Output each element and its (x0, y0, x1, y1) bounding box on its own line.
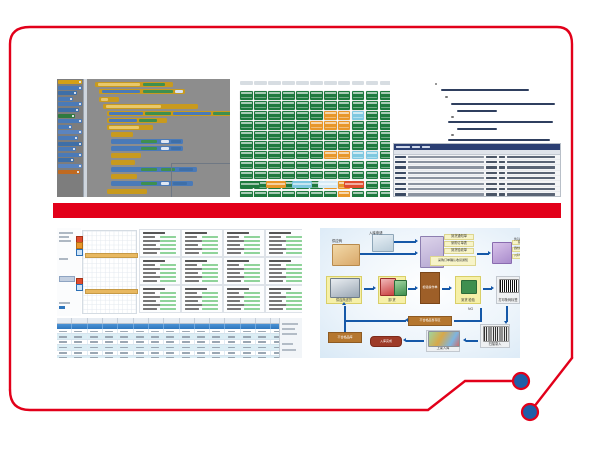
gantt-bar-1[interactable] (85, 253, 138, 258)
grid-cell[interactable] (310, 161, 323, 170)
panel-schedule-sheet[interactable] (57, 228, 302, 358)
grid-cell[interactable] (254, 101, 267, 110)
grid-cell[interactable] (268, 121, 281, 130)
block-statement[interactable] (107, 125, 153, 130)
column-letter[interactable] (149, 318, 164, 323)
table-cell[interactable] (210, 345, 225, 349)
column-letter[interactable] (88, 318, 103, 323)
grid-cell[interactable] (296, 101, 309, 110)
sheet-data-block[interactable] (223, 229, 265, 257)
table-cell[interactable] (180, 345, 195, 349)
grid-cell[interactable] (338, 91, 351, 100)
block-group-1[interactable] (111, 132, 133, 137)
grid-cell[interactable] (296, 171, 309, 180)
table-cell[interactable] (149, 340, 164, 344)
table-cell[interactable] (72, 340, 87, 344)
table-cell[interactable] (149, 356, 164, 358)
gantt-node-orange-1[interactable] (76, 242, 83, 249)
grid-cell[interactable] (296, 111, 309, 120)
sheet-data-block[interactable] (139, 257, 181, 285)
grid-column-header (254, 81, 267, 85)
table-cell[interactable] (149, 345, 164, 349)
grid-cell[interactable] (296, 121, 309, 130)
grid-cell[interactable] (380, 181, 390, 190)
block-group-4[interactable] (111, 174, 137, 179)
table-cell[interactable] (195, 334, 210, 338)
grid-cell[interactable] (240, 91, 253, 100)
table-cell[interactable] (103, 329, 118, 333)
table-cell[interactable] (88, 329, 103, 333)
grid-cell[interactable] (282, 131, 295, 140)
grid-cell[interactable] (366, 151, 379, 160)
table-cell[interactable] (57, 334, 72, 338)
column-letter[interactable] (210, 318, 225, 323)
grid-cell[interactable] (380, 91, 390, 100)
grid-cell[interactable] (352, 161, 365, 170)
grid-cell[interactable] (324, 191, 337, 197)
table-cell[interactable] (241, 329, 256, 333)
palette-block-text[interactable] (58, 97, 73, 101)
grid-cell[interactable] (380, 171, 390, 180)
grid-cell[interactable] (352, 101, 365, 110)
column-letter[interactable] (72, 318, 87, 323)
status-cell-grid[interactable] (240, 81, 390, 197)
table-cell[interactable] (195, 351, 210, 355)
grid-cell[interactable] (366, 121, 379, 130)
grid-cell[interactable] (324, 131, 337, 140)
column-letter[interactable] (118, 318, 133, 323)
palette-block-procedures[interactable] (58, 119, 82, 123)
grid-cell[interactable] (366, 171, 379, 180)
log-source (395, 183, 406, 185)
log-row[interactable] (394, 192, 560, 197)
grid-cell[interactable] (380, 161, 390, 170)
grid-cell[interactable] (282, 101, 295, 110)
grid-cell[interactable] (310, 101, 323, 110)
table-cell[interactable] (256, 334, 271, 338)
table-cell[interactable] (256, 340, 271, 344)
accent-dot-upper (513, 373, 529, 389)
table-cell[interactable] (57, 351, 72, 355)
table-cell[interactable] (164, 345, 179, 349)
grid-cell[interactable] (254, 91, 267, 100)
table-cell[interactable] (210, 351, 225, 355)
table-cell[interactable] (103, 356, 118, 358)
code-editor[interactable] (393, 79, 561, 141)
log-source (395, 156, 406, 158)
grid-cell[interactable] (240, 191, 253, 197)
grid-cell[interactable] (380, 151, 390, 160)
grid-cell[interactable] (282, 161, 295, 170)
grid-cell[interactable] (254, 121, 267, 130)
log-detail (507, 193, 555, 195)
grid-cell[interactable] (352, 141, 365, 150)
grid-cell[interactable] (352, 91, 365, 100)
supplier-person-icon (332, 244, 360, 266)
block-group-3[interactable] (111, 160, 135, 165)
table-side-panel[interactable] (279, 318, 302, 358)
table-cell[interactable] (256, 345, 271, 349)
grid-cell[interactable] (282, 121, 295, 130)
grid-cell[interactable] (240, 141, 253, 150)
grid-cell[interactable] (366, 111, 379, 120)
column-letter[interactable] (225, 318, 240, 323)
table-cell[interactable] (57, 340, 72, 344)
grid-cell[interactable] (310, 141, 323, 150)
grid-cell[interactable] (240, 131, 253, 140)
table-cell[interactable] (164, 340, 179, 344)
grid-cell[interactable] (338, 111, 351, 120)
table-cell[interactable] (149, 351, 164, 355)
grid-cell[interactable] (254, 111, 267, 120)
grid-cell[interactable] (366, 161, 379, 170)
table-cell[interactable] (72, 334, 87, 338)
grid-cell[interactable] (310, 171, 323, 180)
log-detail (507, 183, 555, 185)
column-letter[interactable] (164, 318, 179, 323)
column-letter[interactable] (256, 318, 271, 323)
table-cell[interactable] (164, 356, 179, 358)
grid-cell[interactable] (338, 161, 351, 170)
grid-cell[interactable] (380, 111, 390, 120)
log-path (408, 166, 484, 168)
grid-cell[interactable] (324, 101, 337, 110)
table-cell[interactable] (225, 351, 240, 355)
blocks-palette[interactable] (57, 79, 83, 197)
table-cell[interactable] (241, 351, 256, 355)
block-assign[interactable] (107, 118, 167, 123)
table-cell[interactable] (225, 329, 240, 333)
table-cell[interactable] (225, 345, 240, 349)
log-line (486, 161, 497, 163)
arrowhead-doc-check (449, 286, 452, 290)
grid-cell[interactable] (324, 151, 337, 160)
table-cell[interactable] (88, 345, 103, 349)
grid-cell[interactable] (366, 91, 379, 100)
grid-cell[interactable] (296, 91, 309, 100)
grid-cell[interactable] (338, 171, 351, 180)
palette-block-lists[interactable] (58, 102, 82, 106)
gantt-bar-2[interactable] (85, 289, 138, 294)
column-letter[interactable] (195, 318, 210, 323)
reject-area-node[interactable]: 不合格品暂存区 (408, 316, 452, 326)
table-cell[interactable] (72, 345, 87, 349)
table-cell[interactable] (149, 329, 164, 333)
column-letter[interactable] (180, 318, 195, 323)
column-letter[interactable] (103, 318, 118, 323)
grid-cell[interactable] (324, 171, 337, 180)
block-if[interactable] (99, 97, 119, 102)
grid-cell[interactable] (268, 101, 281, 110)
table-cell[interactable] (88, 340, 103, 344)
palette-block-clock[interactable] (58, 158, 74, 162)
grid-cell[interactable] (338, 151, 351, 160)
palette-block-extra[interactable] (58, 170, 80, 174)
table-cell[interactable] (180, 340, 195, 344)
grid-cell[interactable] (282, 191, 295, 197)
table-cell[interactable] (180, 334, 195, 338)
palette-block-button[interactable] (58, 130, 82, 134)
grid-cell[interactable] (296, 191, 309, 197)
sheet-data-block[interactable] (181, 285, 223, 313)
grid-cell[interactable] (352, 121, 365, 130)
grid-cell[interactable] (254, 141, 267, 150)
block-setter-1[interactable] (111, 139, 183, 144)
grid-cell[interactable] (380, 121, 390, 130)
log-path (408, 188, 484, 190)
grid-cell[interactable] (338, 191, 351, 197)
grid-cell[interactable] (268, 161, 281, 170)
grid-cell[interactable] (240, 151, 253, 160)
block-group-2[interactable] (111, 153, 141, 158)
grid-cell[interactable] (240, 171, 253, 180)
grid-cell[interactable] (254, 131, 267, 140)
panel-status-grid[interactable] (238, 79, 390, 197)
palette-block-any-component[interactable] (58, 164, 82, 168)
gantt-node-mid[interactable] (76, 284, 83, 291)
grid-cell[interactable] (338, 141, 351, 150)
grid-cell[interactable] (296, 151, 309, 160)
table-cell[interactable] (210, 340, 225, 344)
grid-cell[interactable] (282, 111, 295, 120)
table-cell[interactable] (164, 329, 179, 333)
table-cell[interactable] (57, 329, 72, 333)
inspect-doc-node[interactable]: 检验操作单 (420, 272, 440, 304)
sheet-gantt-grid[interactable] (82, 230, 137, 314)
grid-cell[interactable] (268, 151, 281, 160)
grid-cell[interactable] (380, 191, 390, 197)
grid-cell[interactable] (324, 161, 337, 170)
grid-cell[interactable] (254, 191, 267, 197)
grid-cell[interactable] (324, 141, 337, 150)
grid-cell[interactable] (338, 101, 351, 110)
table-cell[interactable] (103, 340, 118, 344)
table-cell[interactable] (88, 334, 103, 338)
grid-cell[interactable] (296, 131, 309, 140)
palette-block-sound[interactable] (58, 153, 82, 157)
table-cell[interactable] (57, 356, 72, 358)
table-cell[interactable] (72, 329, 87, 333)
grid-cell[interactable] (324, 111, 337, 120)
table-cell[interactable] (195, 356, 210, 358)
grid-cell[interactable] (352, 131, 365, 140)
grid-cell[interactable] (268, 91, 281, 100)
table-cell[interactable] (118, 334, 133, 338)
grid-cell[interactable] (310, 151, 323, 160)
table-cell[interactable] (88, 351, 103, 355)
panel-code-log[interactable] (393, 79, 561, 197)
sheet-table[interactable] (57, 318, 302, 358)
table-cell[interactable] (210, 329, 225, 333)
grid-cell[interactable] (282, 151, 295, 160)
block-end[interactable] (107, 189, 147, 194)
grid-cell[interactable] (296, 141, 309, 150)
legend-swatch-warning (266, 181, 286, 188)
column-letter[interactable] (134, 318, 149, 323)
table-cell[interactable] (134, 329, 149, 333)
sheet-data-block[interactable] (265, 229, 302, 257)
palette-block-canvas[interactable] (58, 142, 82, 146)
grid-cell[interactable] (254, 151, 267, 160)
table-cell[interactable] (180, 329, 195, 333)
block-event-when[interactable] (95, 82, 173, 87)
grid-cell[interactable] (282, 91, 295, 100)
column-letter[interactable] (57, 318, 72, 323)
table-cell[interactable] (210, 334, 225, 338)
grid-cell[interactable] (366, 191, 379, 197)
table-cell[interactable] (256, 351, 271, 355)
table-cell[interactable] (210, 356, 225, 358)
table-cell[interactable] (134, 345, 149, 349)
table-cell[interactable] (149, 334, 164, 338)
grid-cell[interactable] (268, 141, 281, 150)
side-tag-3: 入库单据 (512, 254, 520, 259)
table-cell[interactable] (225, 340, 240, 344)
done-node[interactable]: 入库完成 (370, 336, 402, 347)
palette-block-screen[interactable] (58, 125, 72, 129)
sheet-data-block[interactable] (265, 285, 302, 313)
grid-cell[interactable] (380, 131, 390, 140)
grid-cell[interactable] (254, 171, 267, 180)
table-cell[interactable] (118, 345, 133, 349)
table-cell[interactable] (241, 334, 256, 338)
palette-block-label[interactable] (58, 136, 78, 140)
table-cell[interactable] (256, 329, 271, 333)
grid-cell[interactable] (380, 101, 390, 110)
block-call-procedure[interactable] (107, 111, 230, 116)
table-cell[interactable] (57, 345, 72, 349)
table-cell[interactable] (241, 356, 256, 358)
table-cell[interactable] (195, 345, 210, 349)
table-cell[interactable] (195, 329, 210, 333)
block-condition-row[interactable] (103, 104, 198, 109)
arrow-scan-to-erp (394, 241, 416, 243)
panel-logistics-flowchart[interactable]: 供应商 入库申请 到货通知单 采购订单表 到货验收单 采购订单确认收货通知 供应… (320, 228, 520, 358)
table-cell[interactable] (72, 351, 87, 355)
grid-cell[interactable] (240, 161, 253, 170)
panel-blocks-editor[interactable] (57, 79, 230, 197)
palette-block-math[interactable] (58, 91, 77, 95)
block-setter-2[interactable] (111, 146, 183, 151)
sheet-data-block[interactable] (181, 257, 223, 285)
grid-cell[interactable] (366, 141, 379, 150)
table-cell[interactable] (103, 334, 118, 338)
grid-cell[interactable] (310, 121, 323, 130)
palette-block-colors[interactable] (58, 108, 79, 112)
table-cell[interactable] (103, 345, 118, 349)
table-row[interactable] (57, 356, 302, 358)
table-cell[interactable] (134, 351, 149, 355)
log-row-list[interactable] (394, 155, 560, 198)
palette-block-logic[interactable] (58, 86, 82, 90)
block-set-property[interactable] (99, 89, 185, 94)
grid-cell[interactable] (380, 141, 390, 150)
table-cell[interactable] (88, 356, 103, 358)
reject-store-node[interactable]: 不合格品库 (328, 332, 362, 343)
grid-cell[interactable] (352, 171, 365, 180)
log-detail (507, 188, 555, 190)
table-cell[interactable] (118, 329, 133, 333)
table-cell[interactable] (180, 351, 195, 355)
grid-cell[interactable] (366, 131, 379, 140)
column-letter[interactable] (241, 318, 256, 323)
palette-block-sprite[interactable] (58, 147, 76, 151)
table-cell[interactable] (72, 356, 87, 358)
grid-cell[interactable] (268, 111, 281, 120)
table-cell[interactable] (241, 340, 256, 344)
grid-cell[interactable] (324, 91, 337, 100)
grid-cell[interactable] (338, 131, 351, 140)
sheet-data-block[interactable] (223, 285, 265, 313)
grid-cell[interactable] (282, 141, 295, 150)
grid-cell[interactable] (240, 121, 253, 130)
legend-swatch-info (292, 181, 312, 188)
sheet-data-block[interactable] (223, 257, 265, 285)
grid-cell[interactable] (310, 131, 323, 140)
palette-block-control[interactable] (58, 80, 82, 84)
table-cell[interactable] (118, 351, 133, 355)
sheet-data-blocks[interactable] (139, 228, 302, 316)
grid-cell[interactable] (296, 161, 309, 170)
table-cell[interactable] (164, 351, 179, 355)
blocks-canvas[interactable] (87, 79, 230, 197)
grid-cell[interactable] (310, 91, 323, 100)
gantt-node-start[interactable] (76, 249, 83, 256)
table-cell[interactable] (256, 356, 271, 358)
table-cell[interactable] (225, 334, 240, 338)
grid-cell[interactable] (268, 191, 281, 197)
table-cell[interactable] (164, 334, 179, 338)
grid-cell[interactable] (240, 101, 253, 110)
table-cell[interactable] (134, 334, 149, 338)
sheet-data-block[interactable] (265, 257, 302, 285)
grid-cell[interactable] (254, 161, 267, 170)
grid-cell[interactable] (338, 121, 351, 130)
table-cell[interactable] (180, 356, 195, 358)
table-cell[interactable] (103, 351, 118, 355)
sheet-data-block[interactable] (139, 285, 181, 313)
table-cell[interactable] (195, 340, 210, 344)
table-cell[interactable] (118, 356, 133, 358)
palette-block-variables[interactable] (58, 114, 75, 118)
log-col (499, 161, 505, 163)
grid-cell[interactable] (268, 131, 281, 140)
log-line (486, 177, 497, 179)
table-cell[interactable] (118, 340, 133, 344)
table-body[interactable] (57, 329, 302, 358)
table-cell[interactable] (134, 356, 149, 358)
table-cell[interactable] (241, 345, 256, 349)
log-console[interactable] (393, 143, 561, 197)
table-cell[interactable] (134, 340, 149, 344)
sheet-data-block[interactable] (139, 229, 181, 257)
grid-cell[interactable] (282, 171, 295, 180)
grid-cell[interactable] (352, 151, 365, 160)
grid-cell[interactable] (240, 111, 253, 120)
grid-cell[interactable] (366, 181, 379, 190)
grid-cell[interactable] (366, 101, 379, 110)
grid-cell[interactable] (268, 171, 281, 180)
sheet-upper-area[interactable] (57, 228, 302, 316)
sheet-data-block[interactable] (181, 229, 223, 257)
grid-cell[interactable] (310, 111, 323, 120)
grid-cell[interactable] (324, 121, 337, 130)
grid-cell[interactable] (310, 191, 323, 197)
grid-cell[interactable] (352, 111, 365, 120)
table-cell[interactable] (225, 356, 240, 358)
slide-canvas: 供应商 入库申请 到货通知单 采购订单表 到货验收单 采购订单确认收货通知 供应… (0, 0, 600, 450)
grid-cell[interactable] (352, 191, 365, 197)
